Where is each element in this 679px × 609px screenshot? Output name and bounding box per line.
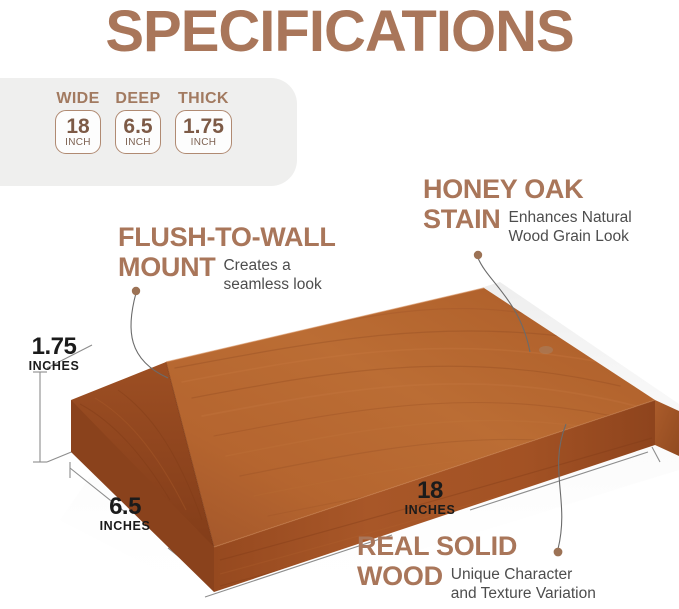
callout-title-flush-line1: FLUSH-TO-WALL [118, 222, 408, 252]
callout-desc-wood-line2: and Texture Variation [451, 584, 596, 603]
spec-value-thick: 1.75 [183, 116, 224, 138]
callout-desc-wood-line1: Unique Character [451, 565, 596, 584]
spec-unit-wide: INCH [65, 137, 91, 149]
spec-unit-thick: INCH [191, 137, 217, 149]
shelf-right-end-face [655, 400, 679, 456]
dimension-unit-thickness: INCHES [18, 359, 90, 373]
callout-desc-honey-line2: Wood Grain Look [509, 227, 632, 246]
leader-line-honey [478, 258, 530, 352]
spec-box-thick: 1.75 INCH [175, 110, 232, 154]
spec-label-wide: WIDE [56, 90, 99, 107]
dim-ext-width-b [470, 452, 648, 510]
page-title: SPECIFICATIONS [0, 0, 679, 68]
callout-dots [132, 251, 563, 557]
callout-title-wood-line2: WOOD [357, 561, 443, 591]
spec-label-deep: DEEP [115, 90, 160, 107]
dim-ext-thickness-bottom [47, 432, 120, 462]
spec-box-deep: 6.5 INCH [115, 110, 161, 154]
dimension-value-depth: 6.5 [88, 494, 162, 519]
callout-title-wood-line1: REAL SOLID [357, 531, 679, 561]
spec-unit-deep: INCH [125, 137, 151, 149]
leader-dot-honey [474, 251, 482, 259]
dimension-label-thickness: 1.75 INCHES [18, 334, 90, 373]
callout-desc-flush-line1: Creates a [223, 256, 321, 275]
dim-ext-depth-b [168, 548, 215, 586]
callout-desc-flush-line2: seamless look [223, 275, 321, 294]
spec-box-wide: 18 INCH [55, 110, 101, 154]
callout-flush-to-wall-mount: FLUSH-TO-WALL MOUNT Creates a seamless l… [118, 222, 408, 294]
dimension-value-width: 18 [395, 478, 465, 503]
callout-title-honey-line2: STAIN [423, 204, 501, 234]
dimension-label-depth: 6.5 INCHES [88, 494, 162, 533]
spec-item-wide: WIDE 18 INCH [55, 90, 101, 154]
dimension-value-thickness: 1.75 [18, 334, 90, 359]
spec-item-thick: THICK 1.75 INCH [175, 90, 232, 154]
callout-leader-lines [131, 258, 566, 549]
spec-box-group: WIDE 18 INCH DEEP 6.5 INCH THICK 1.75 IN… [55, 90, 232, 154]
callout-real-solid-wood: REAL SOLID WOOD Unique Character and Tex… [357, 531, 679, 603]
spec-value-wide: 18 [66, 116, 89, 138]
callout-honey-oak-stain: HONEY OAK STAIN Enhances Natural Wood Gr… [423, 174, 679, 246]
specification-infographic: SPECIFICATIONS WIDE 18 INCH DEEP 6.5 INC… [0, 0, 679, 609]
leader-line-flush [131, 293, 168, 378]
callout-title-honey-line1: HONEY OAK [423, 174, 679, 204]
spec-label-thick: THICK [178, 90, 229, 107]
spec-value-deep: 6.5 [123, 116, 152, 138]
dimension-label-width: 18 INCHES [395, 478, 465, 517]
callout-desc-honey-line1: Enhances Natural [509, 208, 632, 227]
callout-title-flush-line2: MOUNT [118, 252, 215, 282]
dimension-unit-width: INCHES [395, 503, 465, 517]
dimension-unit-depth: INCHES [88, 519, 162, 533]
spec-item-deep: DEEP 6.5 INCH [115, 90, 161, 154]
